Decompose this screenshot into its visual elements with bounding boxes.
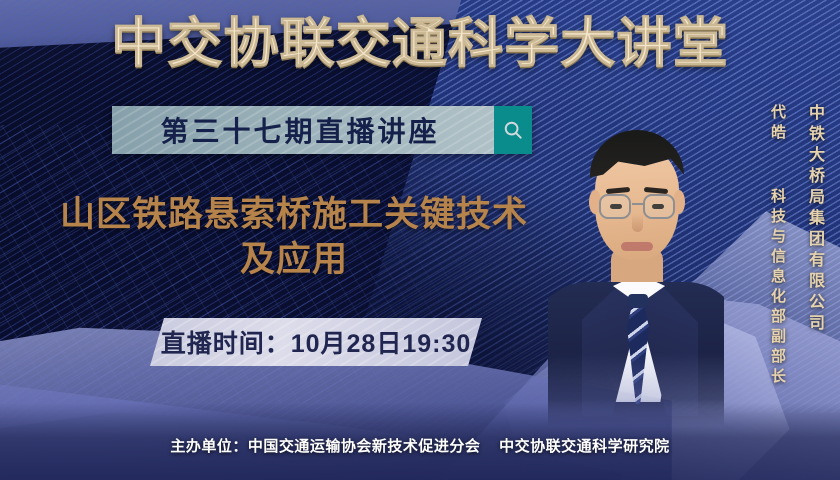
episode-label: 第三十七期直播讲座 xyxy=(112,106,494,154)
lecture-title-line2: 及应用 xyxy=(34,237,554,282)
portrait-lens-right xyxy=(643,194,675,219)
page-title: 中交协联交通科学大讲堂 xyxy=(0,14,840,74)
broadcast-time-text: 直播时间：10月28日19:30 xyxy=(161,324,472,360)
broadcast-time-banner: 直播时间：10月28日19:30 xyxy=(150,318,482,366)
lecture-title-line1: 山区铁路悬索桥施工关键技术 xyxy=(60,195,528,234)
lecture-title: 山区铁路悬索桥施工关键技术 及应用 xyxy=(34,192,554,282)
speaker-name-title: 代皓 科技与信息化部副部长 xyxy=(767,104,788,388)
portrait-tie-knot xyxy=(628,294,648,308)
poster-root: 中交协联交通科学大讲堂 第三十七期直播讲座 山区铁路悬索桥施工关键技术 及应用 … xyxy=(0,0,840,480)
speaker-organization: 中铁大桥局集团有限公司 xyxy=(802,104,826,335)
portrait-mouth xyxy=(621,242,653,251)
portrait-lens-left xyxy=(599,194,631,219)
episode-bar[interactable]: 第三十七期直播讲座 xyxy=(112,106,532,154)
sponsor-line: 主办单位：中国交通运输协会新技术促进分会 中交协联交通科学研究院 xyxy=(0,435,840,456)
search-icon xyxy=(502,119,524,141)
portrait-glasses-bridge xyxy=(632,203,643,205)
speaker-portrait xyxy=(548,96,724,426)
search-button[interactable] xyxy=(494,106,532,154)
portrait-nose xyxy=(632,214,643,232)
